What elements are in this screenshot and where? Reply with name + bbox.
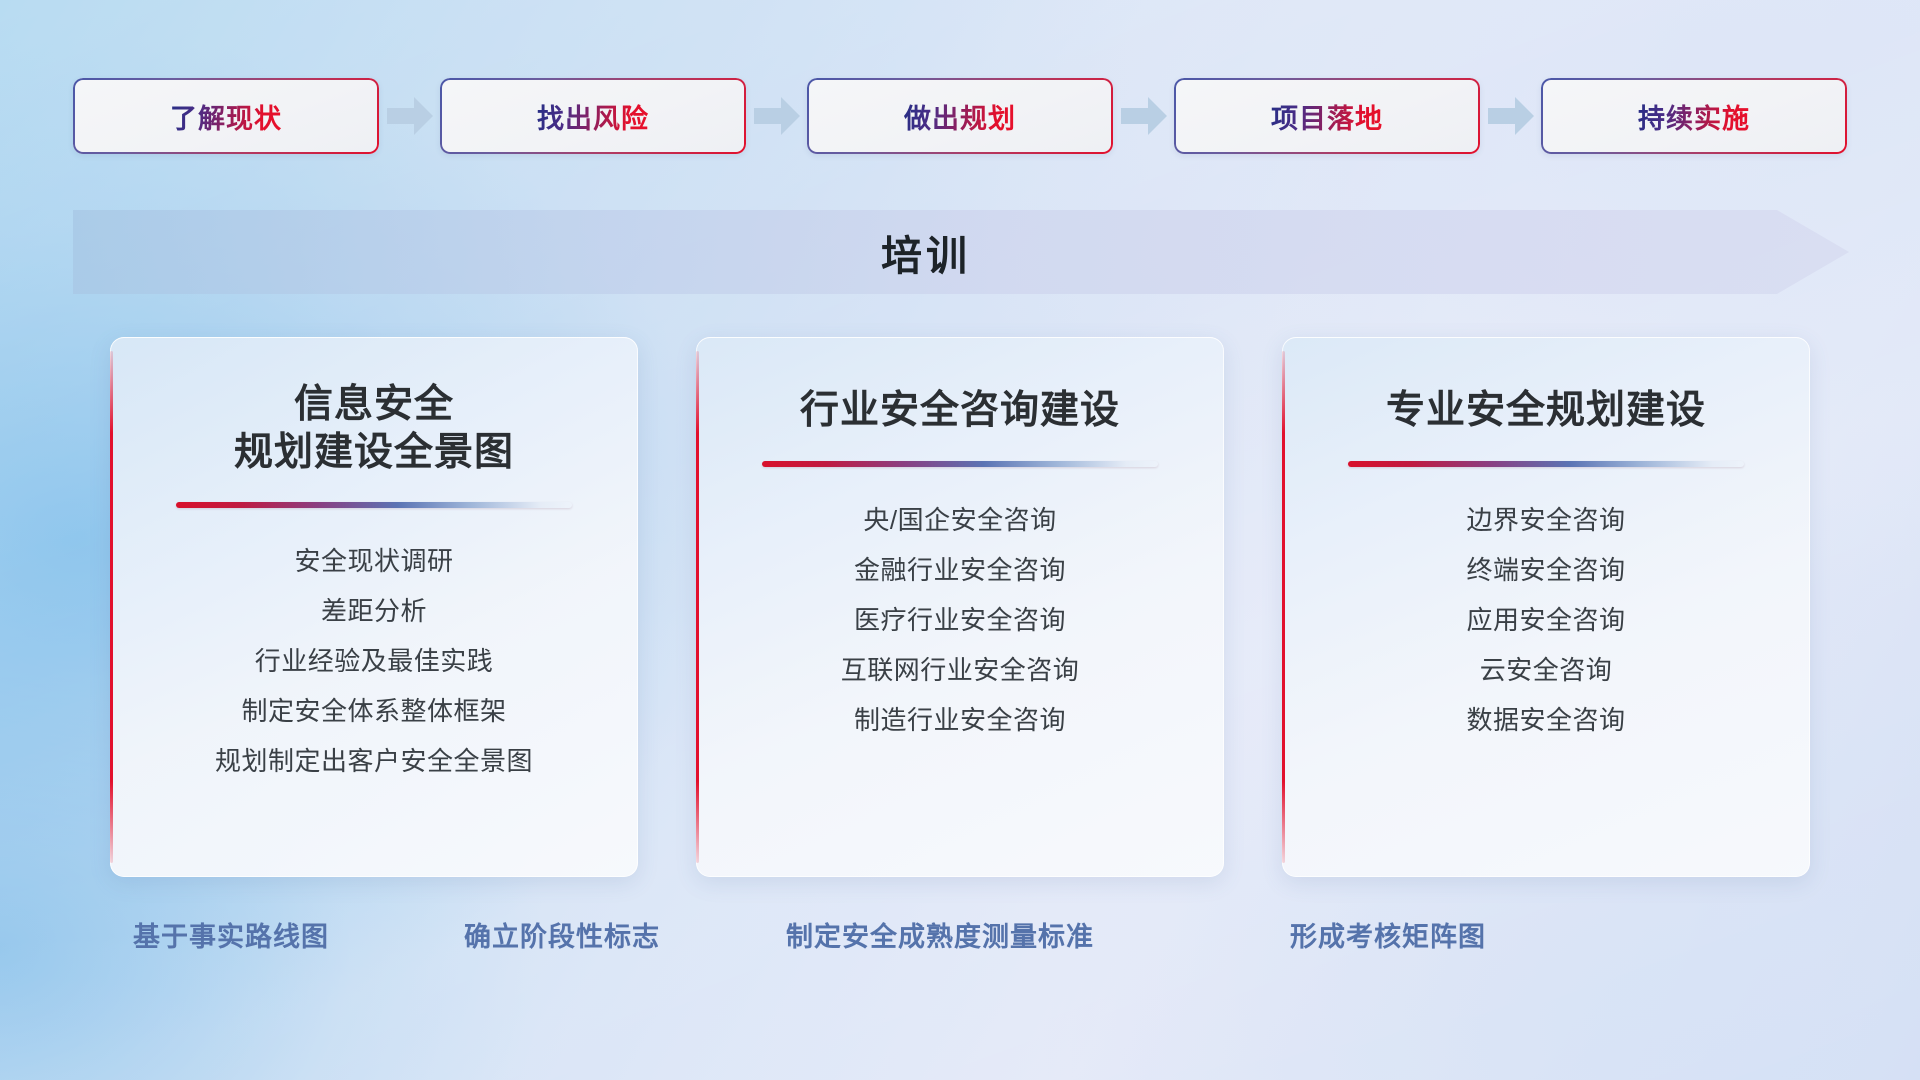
list-item: 云安全咨询 — [1480, 645, 1613, 695]
flow-step-3-label: 做出规划 — [904, 97, 1016, 136]
card-accent-bar — [110, 351, 113, 863]
card-3-divider — [1348, 461, 1744, 467]
card-info-security-panorama[interactable]: 信息安全 规划建设全景图 安全现状调研 差距分析 行业经验及最佳实践 制定安全体… — [110, 337, 638, 877]
slide-canvas: 了解现状 找出风险 做出规划 项目落地 — [0, 0, 1920, 1080]
flow-step-3[interactable]: 做出规划 — [807, 78, 1113, 154]
card-industry-security-consulting[interactable]: 行业安全咨询建设 央/国企安全咨询 金融行业安全咨询 医疗行业安全咨询 互联网行… — [696, 337, 1224, 877]
card-professional-security-planning[interactable]: 专业安全规划建设 边界安全咨询 终端安全咨询 应用安全咨询 云安全咨询 数据安全… — [1282, 337, 1810, 877]
list-item: 边界安全咨询 — [1466, 495, 1625, 545]
card-3-list: 边界安全咨询 终端安全咨询 应用安全咨询 云安全咨询 数据安全咨询 — [1282, 495, 1810, 745]
flow-step-1-label: 了解现状 — [170, 97, 282, 136]
caption-1: 基于事实路线图 — [133, 915, 329, 954]
card-3-title: 专业安全规划建设 — [1282, 387, 1810, 435]
card-1-divider — [176, 502, 572, 508]
card-1-title: 信息安全 规划建设全景图 — [110, 381, 638, 476]
list-item: 医疗行业安全咨询 — [854, 595, 1066, 645]
list-item: 终端安全咨询 — [1466, 545, 1625, 595]
flow-step-2-label: 找出风险 — [537, 97, 649, 136]
flow-step-5-label: 持续实施 — [1638, 97, 1750, 136]
arrow-right-icon — [1480, 78, 1541, 154]
banner-title: 培训 — [73, 210, 1849, 294]
list-item: 应用安全咨询 — [1466, 595, 1625, 645]
list-item: 数据安全咨询 — [1466, 695, 1625, 745]
card-group: 信息安全 规划建设全景图 安全现状调研 差距分析 行业经验及最佳实践 制定安全体… — [110, 337, 1810, 877]
flow-step-4[interactable]: 项目落地 — [1174, 78, 1480, 154]
list-item: 行业经验及最佳实践 — [255, 636, 494, 686]
list-item: 安全现状调研 — [294, 536, 453, 586]
list-item: 金融行业安全咨询 — [854, 545, 1066, 595]
caption-2: 确立阶段性标志 — [464, 915, 660, 954]
card-2-list: 央/国企安全咨询 金融行业安全咨询 医疗行业安全咨询 互联网行业安全咨询 制造行… — [696, 495, 1224, 745]
arrow-right-icon — [379, 78, 440, 154]
arrow-right-icon — [746, 78, 807, 154]
card-1-list: 安全现状调研 差距分析 行业经验及最佳实践 制定安全体系整体框架 规划制定出客户… — [110, 536, 638, 786]
card-accent-bar — [696, 351, 699, 863]
card-1-title-line1: 信息安全 — [130, 381, 618, 429]
card-accent-bar — [1282, 351, 1285, 863]
flow-step-5[interactable]: 持续实施 — [1541, 78, 1847, 154]
list-item: 制造行业安全咨询 — [854, 695, 1066, 745]
list-item: 制定安全体系整体框架 — [241, 686, 506, 736]
flow-step-1[interactable]: 了解现状 — [73, 78, 379, 154]
process-flow: 了解现状 找出风险 做出规划 项目落地 — [73, 78, 1849, 154]
flow-step-2[interactable]: 找出风险 — [440, 78, 746, 154]
caption-4: 形成考核矩阵图 — [1290, 915, 1486, 954]
card-2-title: 行业安全咨询建设 — [696, 387, 1224, 435]
flow-step-4-label: 项目落地 — [1271, 97, 1383, 136]
list-item: 互联网行业安全咨询 — [841, 645, 1080, 695]
arrow-right-icon — [1113, 78, 1174, 154]
card-2-divider — [762, 461, 1158, 467]
caption-row: 基于事实路线图 确立阶段性标志 制定安全成熟度测量标准 形成考核矩阵图 — [0, 915, 1920, 965]
caption-3: 制定安全成熟度测量标准 — [786, 915, 1094, 954]
card-2-title-line1: 行业安全咨询建设 — [716, 387, 1204, 435]
list-item: 差距分析 — [321, 586, 427, 636]
card-3-title-line1: 专业安全规划建设 — [1302, 387, 1790, 435]
card-1-title-line2: 规划建设全景图 — [130, 429, 618, 477]
list-item: 央/国企安全咨询 — [863, 495, 1056, 545]
training-banner: 培训 — [73, 210, 1849, 294]
list-item: 规划制定出客户安全全景图 — [215, 736, 533, 786]
